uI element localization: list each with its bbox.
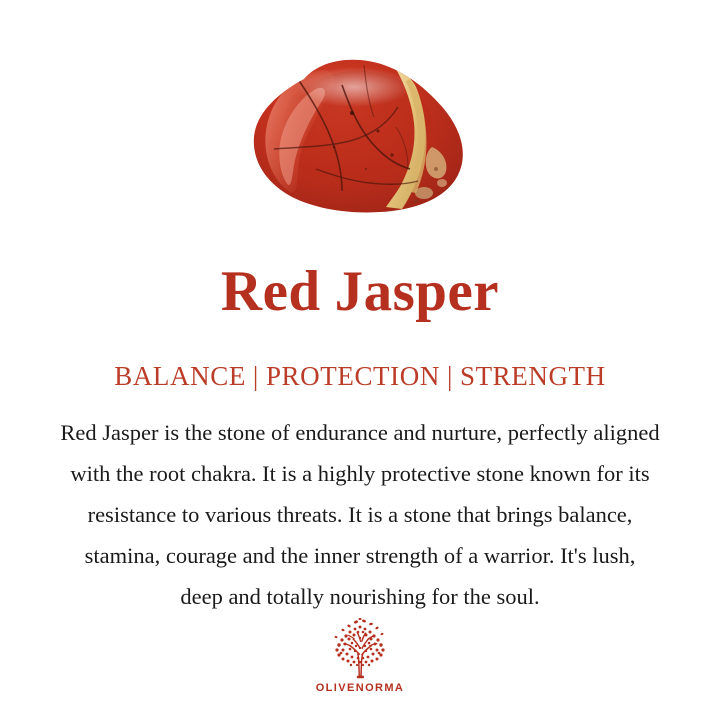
red-jasper-stone-icon [246,51,474,221]
description-line: with the root chakra. It is a highly pro… [8,453,712,494]
product-image [0,46,720,226]
description-line: deep and totally nourishing for the soul… [8,576,712,617]
brand-logo: OLIVENORMA [0,618,720,694]
description-line: Red Jasper is the stone of endurance and… [8,412,712,453]
description-line: resistance to various threats. It is a s… [8,494,712,535]
title-word-1: Red [221,260,321,323]
keyword-separator-2: | [440,360,460,392]
keyword-strength: STRENGTH [460,361,606,391]
keyword-line: BALANCE|PROTECTION|STRENGTH [0,360,720,392]
tree-logo-icon [325,618,395,680]
product-info-card: RedJasper BALANCE|PROTECTION|STRENGTH Re… [0,0,720,720]
description-paragraph: Red Jasper is the stone of endurance and… [8,412,712,617]
keyword-balance: BALANCE [114,361,246,391]
description-line: stamina, courage and the inner strength … [8,535,712,576]
title-word-2: Jasper [335,260,499,323]
page-title: RedJasper [0,262,720,322]
brand-name: OLIVENORMA [316,682,405,694]
keyword-separator-1: | [246,360,266,392]
keyword-protection: PROTECTION [266,361,440,391]
